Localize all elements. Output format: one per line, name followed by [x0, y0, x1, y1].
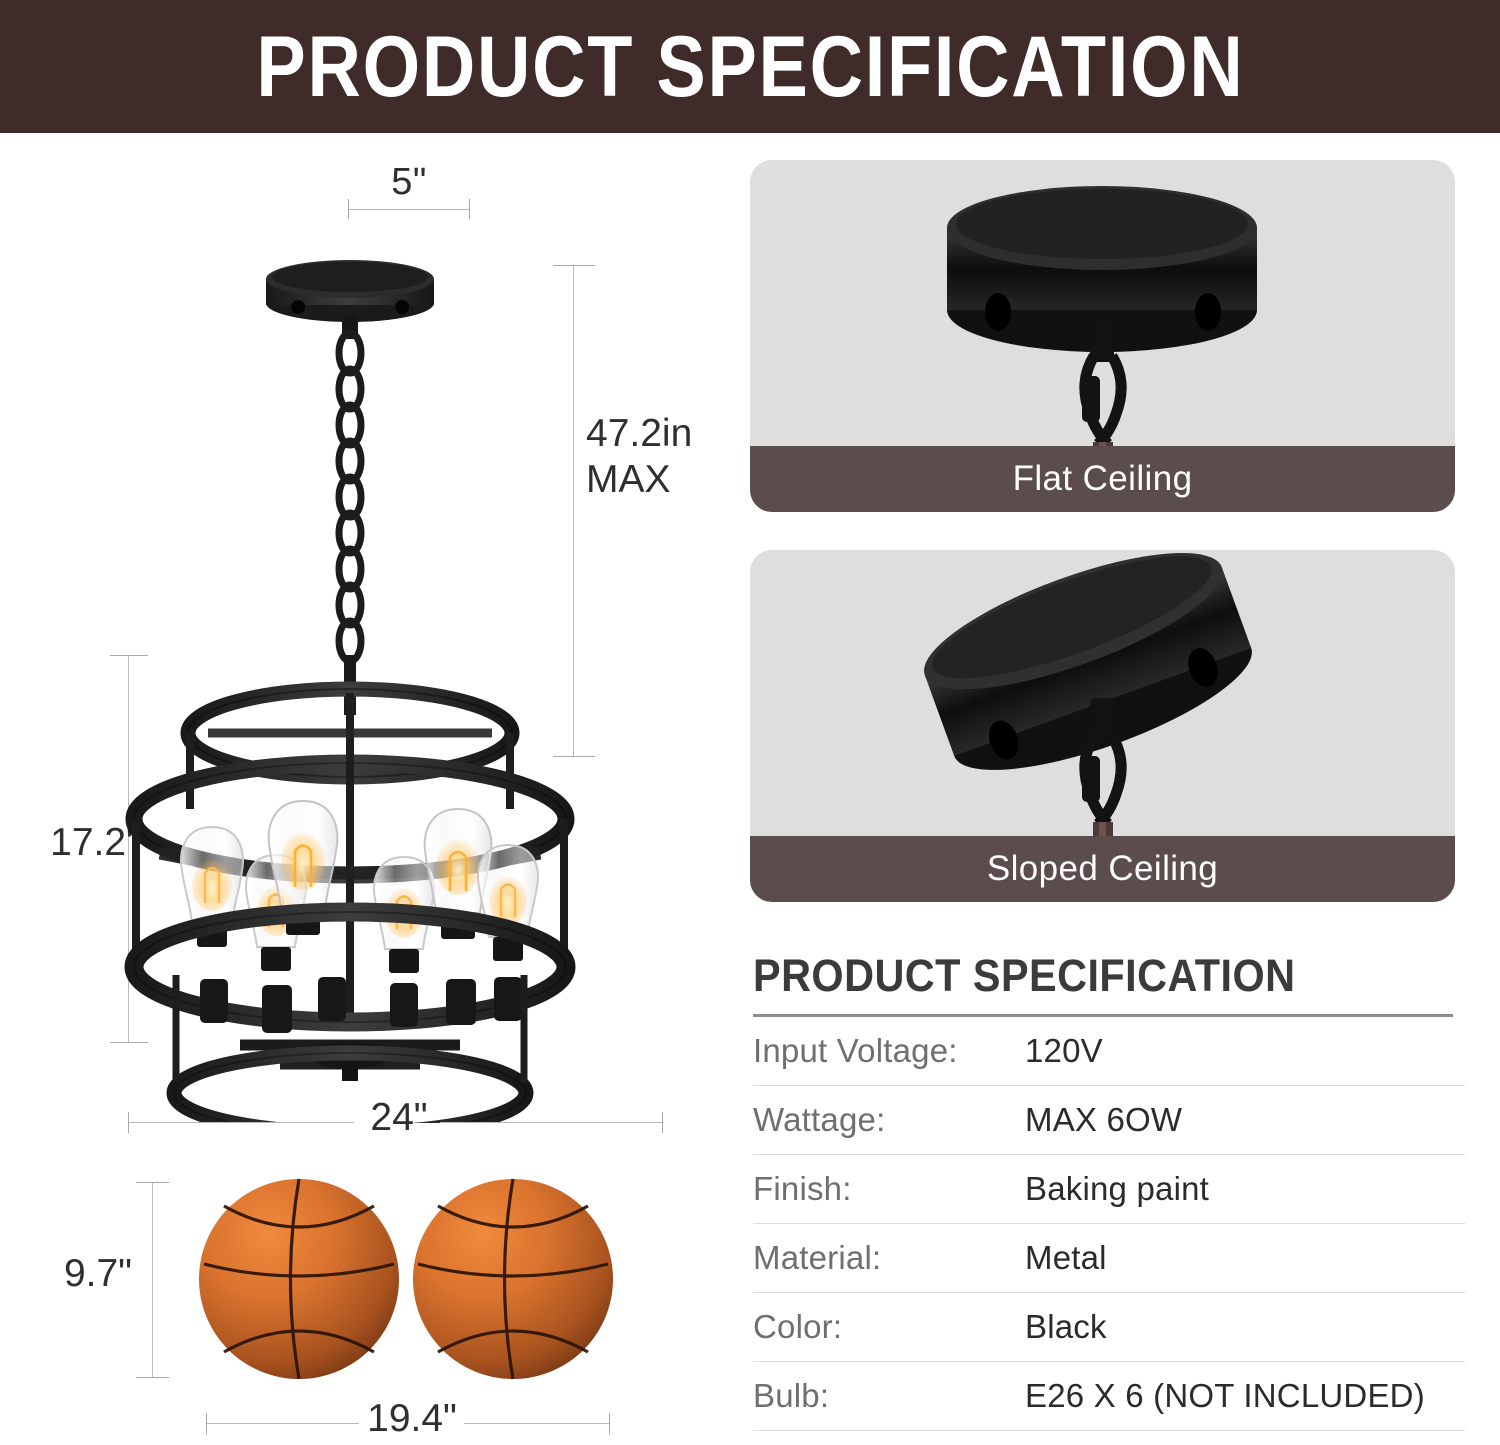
table-row: Color: Black [753, 1293, 1465, 1362]
flat-ceiling-panel: Flat Ceiling [750, 160, 1455, 512]
product-diagram-column: 5" 47.2in MAX 17.2" [0, 133, 720, 1444]
spec-value: E26 X 6 (NOT INCLUDED) [1025, 1377, 1425, 1415]
spec-value: Baking paint [1025, 1170, 1209, 1208]
page-title: PRODUCT SPECIFICATION [256, 24, 1244, 110]
dimension-fixture-width-label: 24" [356, 1096, 442, 1140]
suspension-chain [339, 333, 361, 661]
sloped-ceiling-caption-label: Sloped Ceiling [987, 849, 1218, 889]
dimension-basketball-height: 9.7" [100, 1180, 230, 1380]
table-row: Wattage: MAX 6OW [753, 1086, 1465, 1155]
dimension-line-right [464, 1423, 609, 1424]
spec-value: Black [1025, 1308, 1107, 1346]
right-column: Flat Ceiling [745, 160, 1485, 1444]
sloped-ceiling-caption: Sloped Ceiling [750, 836, 1455, 902]
dimension-tick-right [662, 1112, 663, 1133]
spec-value: Metal [1025, 1239, 1107, 1277]
chandelier-illustration [90, 193, 610, 1123]
flat-ceiling-caption: Flat Ceiling [750, 446, 1455, 512]
dimension-line-right [440, 1122, 662, 1123]
ceiling-canopy [266, 260, 434, 339]
edison-bulb-group [181, 801, 538, 973]
spec-value: MAX 6OW [1025, 1101, 1182, 1139]
specification-table: PRODUCT SPECIFICATION Input Voltage: 120… [753, 950, 1465, 1431]
dimension-line-left [129, 1122, 354, 1123]
spec-label: Bulb: [753, 1377, 1025, 1415]
dimension-basketball-width-label: 19.4" [356, 1397, 468, 1441]
dimension-line-left [207, 1423, 359, 1424]
dimension-basketball-height-label: 9.7" [48, 1252, 148, 1296]
specification-heading: PRODUCT SPECIFICATION [753, 950, 1408, 1002]
dimension-tick-bottom [136, 1377, 169, 1378]
basketball-scale-reference [196, 1176, 616, 1382]
dimension-fixture-width: 24" [128, 1096, 663, 1146]
dimension-tick-left [128, 1112, 129, 1133]
table-row: Bulb: E26 X 6 (NOT INCLUDED) [753, 1362, 1465, 1431]
basketballs-svg [196, 1176, 616, 1382]
dimension-basketball-width: 19.4" [206, 1395, 610, 1445]
flat-ceiling-caption-label: Flat Ceiling [1013, 459, 1193, 499]
header-banner: PRODUCT SPECIFICATION [0, 0, 1500, 133]
spec-label: Finish: [753, 1170, 1025, 1208]
table-row: Input Voltage: 120V [753, 1017, 1465, 1086]
spec-label: Input Voltage: [753, 1032, 1025, 1070]
dimension-tick-right [609, 1413, 610, 1434]
spec-value: 120V [1025, 1032, 1103, 1070]
spec-label: Wattage: [753, 1101, 1025, 1139]
sloped-ceiling-panel: Sloped Ceiling [750, 550, 1455, 902]
table-row: Finish: Baking paint [753, 1155, 1465, 1224]
dimension-tick-left [206, 1413, 207, 1434]
spec-label: Material: [753, 1239, 1025, 1277]
dimension-line [152, 1182, 153, 1378]
basketball [413, 1179, 613, 1379]
chandelier-svg [90, 193, 610, 1123]
table-row: Material: Metal [753, 1224, 1465, 1293]
spec-label: Color: [753, 1308, 1025, 1346]
dimension-tick-top [136, 1182, 169, 1183]
